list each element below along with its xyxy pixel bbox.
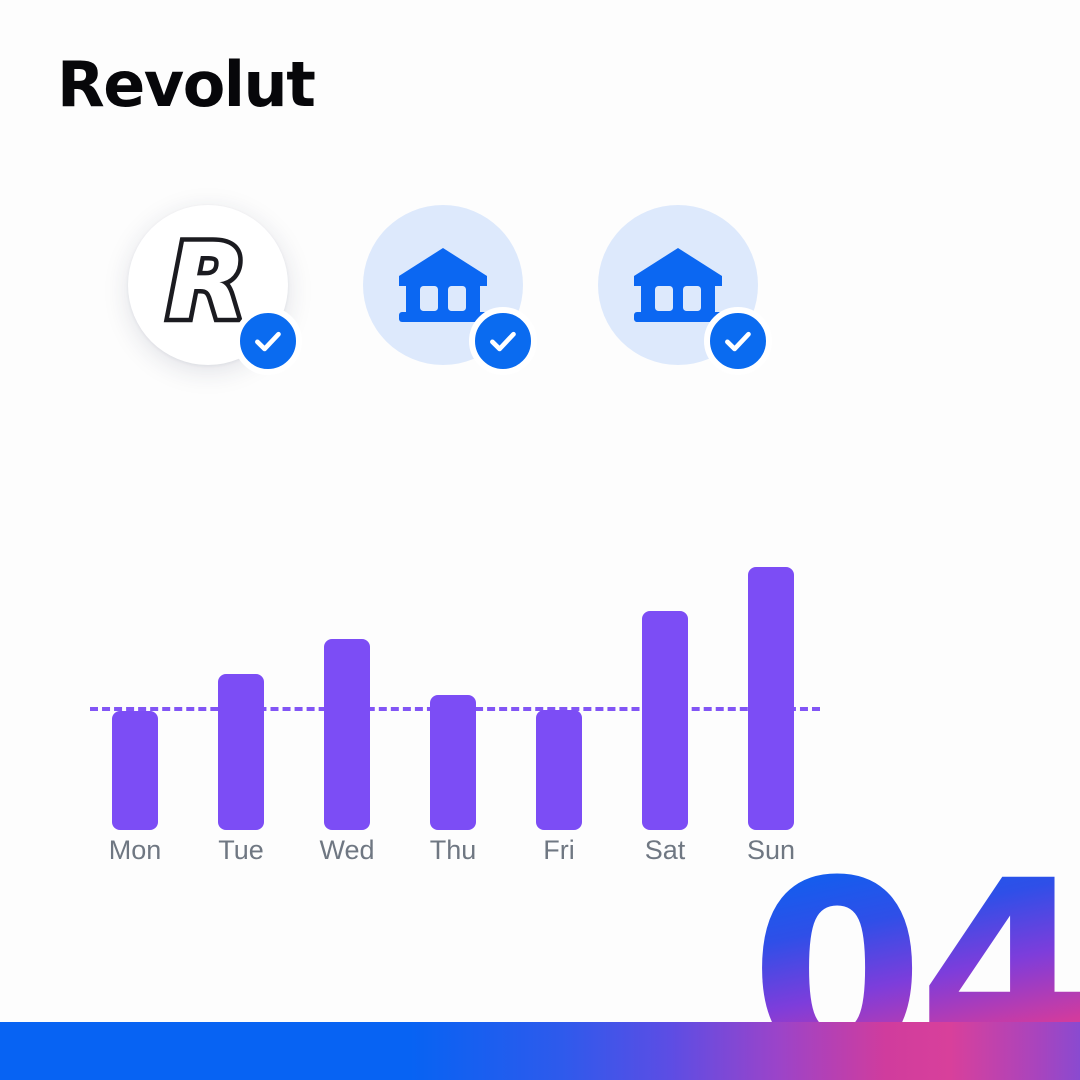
verified-accounts-row: R: [128, 205, 828, 390]
chart-x-axis: MonTueWedThuFriSatSun: [90, 835, 850, 875]
chart-bar: [112, 711, 158, 830]
account-chip-bank-1[interactable]: [363, 205, 523, 365]
poster-canvas: Revolut R: [0, 0, 1080, 1080]
bottom-gradient-bar: [0, 1022, 1080, 1080]
chart-plot-area: [90, 545, 850, 830]
check-icon: [469, 307, 537, 375]
chart-bar: [536, 710, 582, 830]
bank-icon: [632, 245, 724, 325]
chart-x-label: Tue: [186, 835, 296, 866]
chart-x-label: Sat: [610, 835, 720, 866]
check-icon: [234, 307, 302, 375]
chart-bar: [324, 639, 370, 830]
chart-bar: [642, 611, 688, 830]
account-chip-revolut[interactable]: R: [128, 205, 288, 365]
chart-x-label: Wed: [292, 835, 402, 866]
brand-wordmark: Revolut: [57, 54, 314, 116]
account-chip-bank-2[interactable]: [598, 205, 758, 365]
weekly-bar-chart: MonTueWedThuFriSatSun: [90, 545, 850, 885]
chart-x-label: Mon: [80, 835, 190, 866]
bank-icon: [397, 245, 489, 325]
check-icon: [704, 307, 772, 375]
revolut-r-icon: R: [167, 230, 247, 334]
chart-bar: [218, 674, 264, 830]
chart-x-label: Fri: [504, 835, 614, 866]
chart-bar: [430, 695, 476, 830]
chart-x-label: Thu: [398, 835, 508, 866]
chart-bar: [748, 567, 794, 830]
